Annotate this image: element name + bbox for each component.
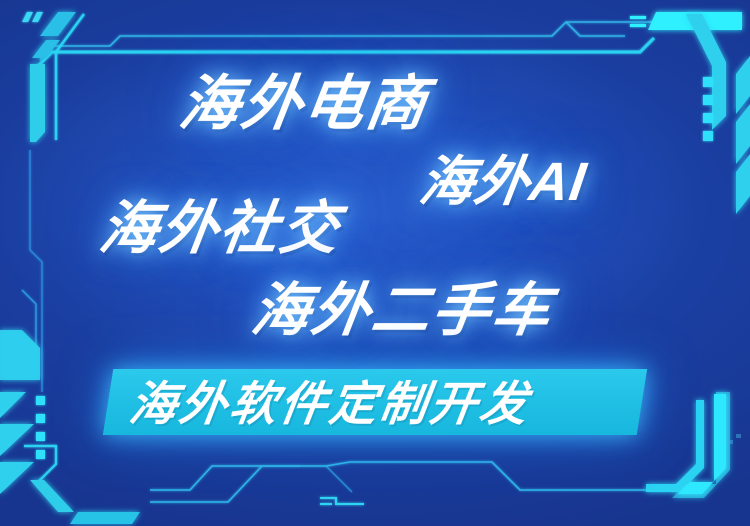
headline-ecommerce: 海外电商 [176,74,432,134]
headline-used-car: 海外二手车 [248,282,556,340]
headline-stack: 海外电商 海外AI 海外社交 海外二手车 海外软件定制开发 [0,0,750,526]
headline-social: 海外社交 [96,200,344,258]
cta-banner-label: 海外软件定制开发 [126,379,633,429]
poster-canvas: 海外电商 海外AI 海外社交 海外二手车 海外软件定制开发 [0,0,750,526]
headline-ai: 海外AI [416,155,590,209]
